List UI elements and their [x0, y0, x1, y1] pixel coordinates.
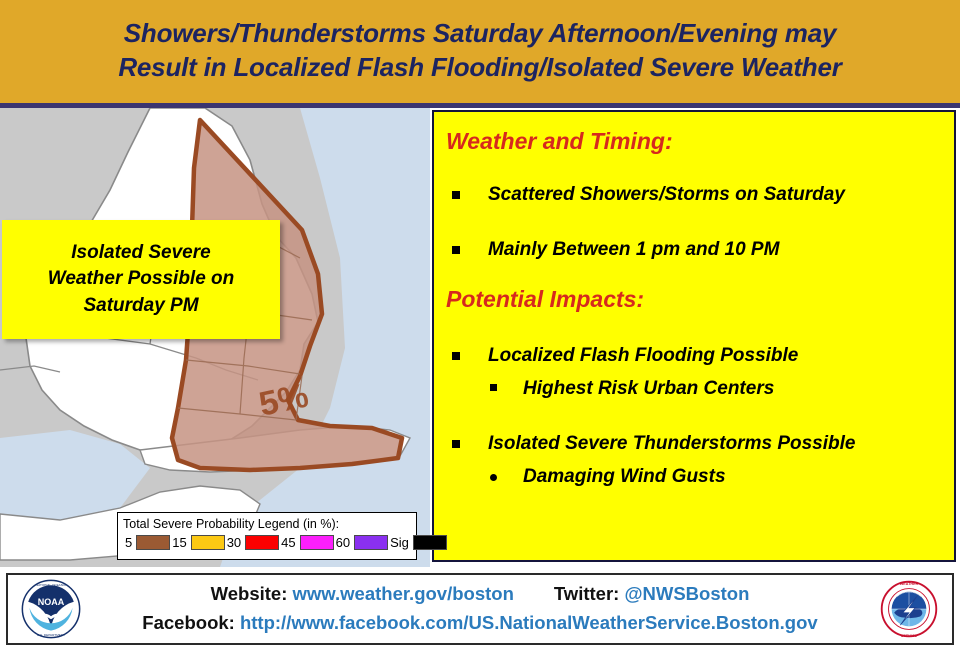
nws-logo-icon: WEATHER SERVICE — [878, 578, 940, 640]
svg-text:WEATHER: WEATHER — [900, 582, 919, 586]
legend-label-sig: Sig — [388, 535, 413, 550]
square-bullet-icon — [452, 440, 460, 448]
callout-line-2: Weather Possible on — [48, 266, 235, 293]
footer-line-facebook: Facebook: http://www.facebook.com/US.Nat… — [142, 610, 817, 637]
callout-line-3: Saturday PM — [83, 293, 198, 320]
square-bullet-icon — [452, 191, 460, 199]
bullet-isolated-severe: Isolated Severe Thunderstorms Possible — [452, 431, 948, 456]
legend-scale: 5 15 30 45 60 Sig — [123, 535, 412, 550]
facebook-label: Facebook: — [142, 612, 235, 633]
legend-title: Total Severe Probability Legend (in %): — [123, 515, 412, 533]
legend-swatch-45 — [300, 535, 334, 550]
website-link[interactable]: www.weather.gov/boston — [293, 583, 514, 604]
sub-bullet-urban-centers-text: Highest Risk Urban Centers — [523, 376, 774, 401]
bullet-isolated-severe-text: Isolated Severe Thunderstorms Possible — [488, 431, 855, 456]
weather-info-panel: Weather and Timing: Scattered Showers/St… — [432, 110, 956, 562]
noaa-logo-icon: NOAA NATIONAL OCEANIC U.S. DEPARTMENT — [21, 579, 81, 639]
map-callout-box: Isolated Severe Weather Possible on Satu… — [2, 220, 280, 339]
probability-legend: Total Severe Probability Legend (in %): … — [117, 512, 417, 560]
twitter-link[interactable]: @NWSBoston — [624, 583, 749, 604]
legend-item-sig: Sig — [388, 535, 447, 550]
legend-item-30: 30 — [225, 535, 279, 550]
weather-timing-heading: Weather and Timing: — [446, 128, 948, 155]
bullet-timing-window: Mainly Between 1 pm and 10 PM — [452, 237, 948, 262]
nws-logo-slot: WEATHER SERVICE — [866, 578, 952, 640]
square-sub-bullet-icon — [490, 384, 497, 391]
legend-item-15: 15 — [170, 535, 224, 550]
legend-label-15: 15 — [170, 535, 190, 550]
svg-text:NATIONAL OCEANIC: NATIONAL OCEANIC — [36, 583, 67, 587]
bullet-scattered-showers-text: Scattered Showers/Storms on Saturday — [488, 182, 845, 207]
facebook-link[interactable]: http://www.facebook.com/US.NationalWeath… — [240, 612, 818, 633]
noaa-logo-slot: NOAA NATIONAL OCEANIC U.S. DEPARTMENT — [8, 579, 94, 639]
legend-swatch-60 — [354, 535, 388, 550]
bullet-timing-window-text: Mainly Between 1 pm and 10 PM — [488, 237, 779, 262]
potential-impacts-heading: Potential Impacts: — [446, 286, 948, 313]
website-label: Website: — [211, 583, 288, 604]
svg-text:SERVICE: SERVICE — [901, 634, 918, 638]
legend-label-45: 45 — [279, 535, 299, 550]
footer-line-website-twitter: Website: www.weather.gov/boston Twitter:… — [211, 581, 750, 608]
twitter-label: Twitter: — [554, 583, 619, 604]
legend-item-5: 5 — [123, 535, 170, 550]
legend-label-30: 30 — [225, 535, 245, 550]
sub-bullet-urban-centers: Highest Risk Urban Centers — [490, 376, 948, 401]
legend-swatch-5 — [136, 535, 170, 550]
headline-line-1: Showers/Thunderstorms Saturday Afternoon… — [124, 17, 836, 51]
website-entry: Website: www.weather.gov/boston — [211, 581, 514, 608]
square-bullet-icon — [452, 246, 460, 254]
legend-swatch-30 — [245, 535, 279, 550]
sub-bullet-wind-gusts-text: Damaging Wind Gusts — [523, 464, 726, 489]
footer-contact-text: Website: www.weather.gov/boston Twitter:… — [94, 581, 866, 637]
headline-banner: Showers/Thunderstorms Saturday Afternoon… — [0, 0, 960, 103]
legend-swatch-15 — [191, 535, 225, 550]
svg-text:U.S. DEPARTMENT: U.S. DEPARTMENT — [37, 633, 65, 637]
bullet-scattered-showers: Scattered Showers/Storms on Saturday — [452, 182, 948, 207]
callout-line-1: Isolated Severe — [71, 240, 210, 267]
legend-label-5: 5 — [123, 535, 136, 550]
legend-item-45: 45 — [279, 535, 333, 550]
bullet-flash-flooding-text: Localized Flash Flooding Possible — [488, 343, 798, 368]
square-bullet-icon — [452, 352, 460, 360]
legend-item-60: 60 — [334, 535, 388, 550]
twitter-entry: Twitter: @NWSBoston — [554, 581, 750, 608]
legend-swatch-sig — [413, 535, 447, 550]
svg-text:NOAA: NOAA — [38, 597, 65, 607]
bullet-flash-flooding: Localized Flash Flooding Possible — [452, 343, 948, 368]
contact-footer: NOAA NATIONAL OCEANIC U.S. DEPARTMENT We… — [6, 573, 954, 645]
severe-weather-outlook-map: 5% Isolated Severe Weather Possible on S… — [0, 108, 430, 567]
sub-bullet-wind-gusts: Damaging Wind Gusts — [490, 464, 948, 489]
headline-line-2: Result in Localized Flash Flooding/Isola… — [118, 51, 841, 85]
round-sub-bullet-icon — [490, 474, 497, 481]
legend-label-60: 60 — [334, 535, 354, 550]
